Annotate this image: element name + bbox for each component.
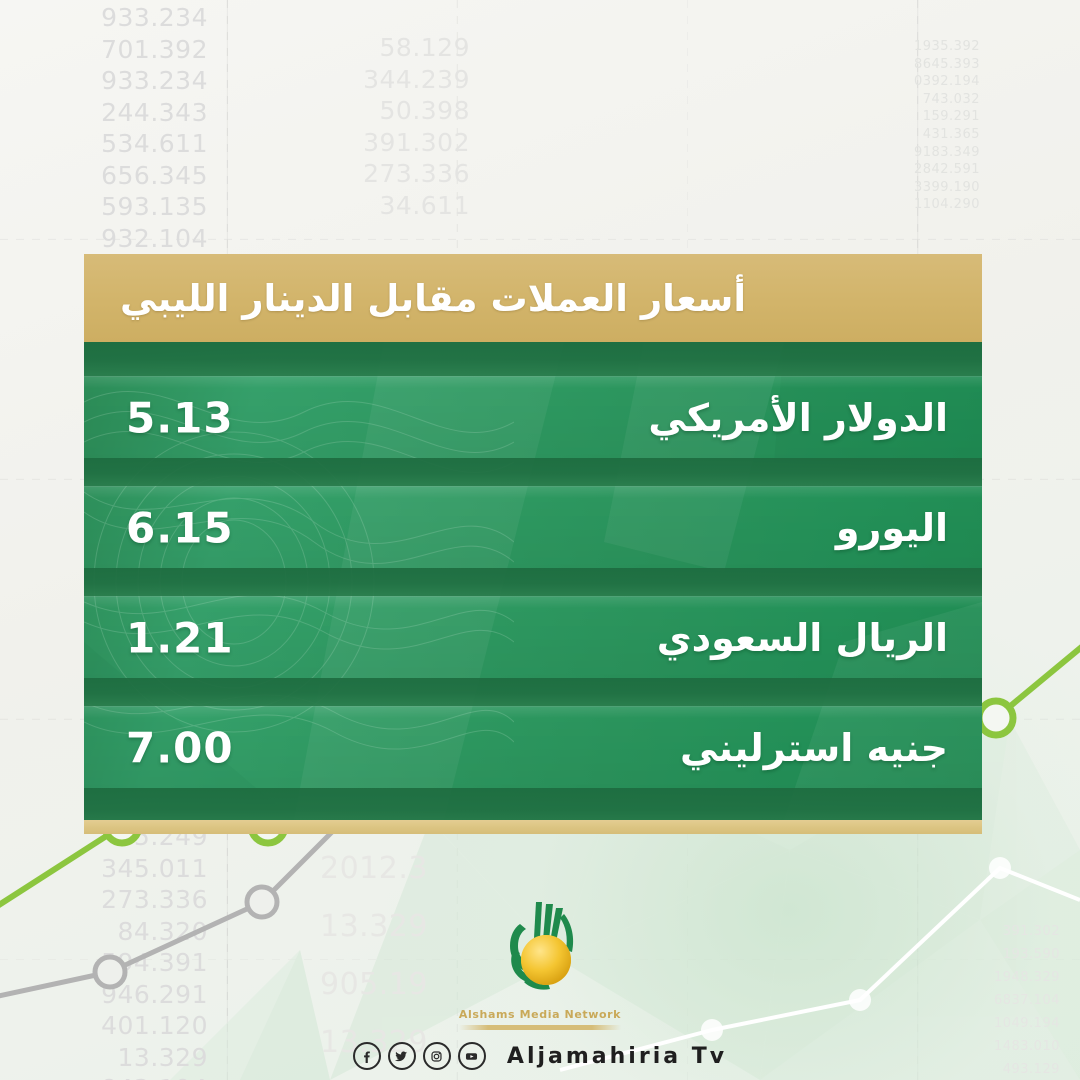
currency-name: الدولار الأمريكي bbox=[648, 396, 948, 440]
poster-canvas: 933.234 701.392 933.234 244.343 534.611 … bbox=[0, 0, 1080, 1080]
currency-rate: 5.13 bbox=[126, 393, 234, 442]
footer: Alshams Media Network Aljamahiria Tv bbox=[0, 898, 1080, 1070]
logo-divider bbox=[459, 1025, 621, 1030]
row-separator bbox=[84, 788, 982, 820]
currency-name: جنيه استرليني bbox=[680, 726, 948, 770]
social-links: Aljamahiria Tv bbox=[353, 1042, 727, 1070]
youtube-icon[interactable] bbox=[458, 1042, 486, 1070]
rates-table: الدولار الأمريكي 5.13 اليورو 6.15 الريال… bbox=[84, 342, 982, 820]
table-row[interactable]: اليورو 6.15 bbox=[84, 486, 982, 568]
row-separator bbox=[84, 458, 982, 486]
table-row[interactable]: الدولار الأمريكي 5.13 bbox=[84, 376, 982, 458]
row-separator bbox=[84, 568, 982, 596]
currency-rates-card: أسعار العملات مقابل الدينار الليبي bbox=[84, 254, 982, 834]
currency-name: اليورو bbox=[836, 506, 948, 550]
instagram-icon[interactable] bbox=[423, 1042, 451, 1070]
row-separator bbox=[84, 342, 982, 376]
rates-row-list: الدولار الأمريكي 5.13 اليورو 6.15 الريال… bbox=[84, 342, 982, 820]
logo-subtitle: Alshams Media Network bbox=[459, 1008, 621, 1021]
chart-point-green bbox=[979, 701, 1013, 735]
card-footer-rule bbox=[84, 820, 982, 834]
table-row[interactable]: الريال السعودي 1.21 bbox=[84, 596, 982, 678]
facebook-icon[interactable] bbox=[353, 1042, 381, 1070]
currency-rate: 1.21 bbox=[126, 613, 234, 662]
row-separator bbox=[84, 678, 982, 706]
currency-name: الريال السعودي bbox=[657, 616, 948, 660]
currency-rate: 7.00 bbox=[126, 723, 234, 772]
brand-name: Aljamahiria Tv bbox=[507, 1044, 727, 1069]
currency-rate: 6.15 bbox=[126, 503, 234, 552]
alshams-logo-icon bbox=[480, 898, 600, 1006]
table-row[interactable]: جنيه استرليني 7.00 bbox=[84, 706, 982, 788]
card-title-bar: أسعار العملات مقابل الدينار الليبي bbox=[84, 254, 982, 342]
page-title: أسعار العملات مقابل الدينار الليبي bbox=[120, 277, 746, 320]
twitter-icon[interactable] bbox=[388, 1042, 416, 1070]
chart-point-white bbox=[989, 857, 1011, 879]
